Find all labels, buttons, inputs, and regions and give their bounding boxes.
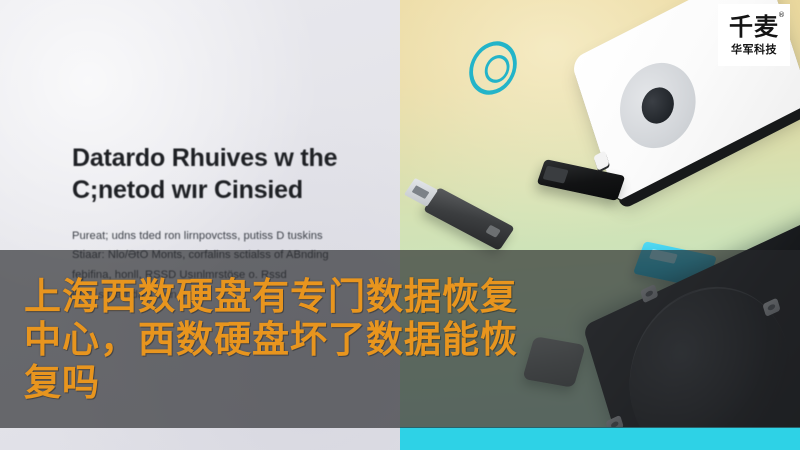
promo-banner: Datardo Rhuives w the C;netod wır Cinsie… — [0, 0, 800, 450]
headline-line-3: 复吗 — [24, 362, 684, 405]
bottom-cyan-band — [400, 427, 800, 450]
registered-trademark-icon: ® — [778, 12, 786, 19]
headline-line-2: 中心，西数硬盘坏了数据能恢 — [24, 319, 684, 362]
document-body-line-1: Pureat; udns tded ron lirnpovctss, putis… — [72, 227, 372, 247]
document-heading: Datardo Rhuives w the C;netod wır Cinsie… — [72, 142, 372, 207]
headline-line-1: 上海西数硬盘有专门数据恢复 — [24, 276, 684, 319]
headline: 上海西数硬盘有专门数据恢复 中心，西数硬盘坏了数据能恢 复吗 — [24, 276, 684, 405]
usb-drive-dark-strip — [485, 225, 501, 238]
brand-logo-subtitle: 华军科技 — [731, 44, 777, 55]
document-heading-line-2: C;netod wır Cinsied — [72, 174, 372, 206]
brand-logo-text: 千麦 — [729, 13, 779, 41]
brand-logo-name: 千麦 ® — [729, 15, 779, 39]
brand-logo: 千麦 ® 华军科技 — [718, 4, 790, 66]
document-heading-line-1: Datardo Rhuives w the — [72, 142, 372, 174]
usb-drive-black-cap — [543, 166, 569, 184]
